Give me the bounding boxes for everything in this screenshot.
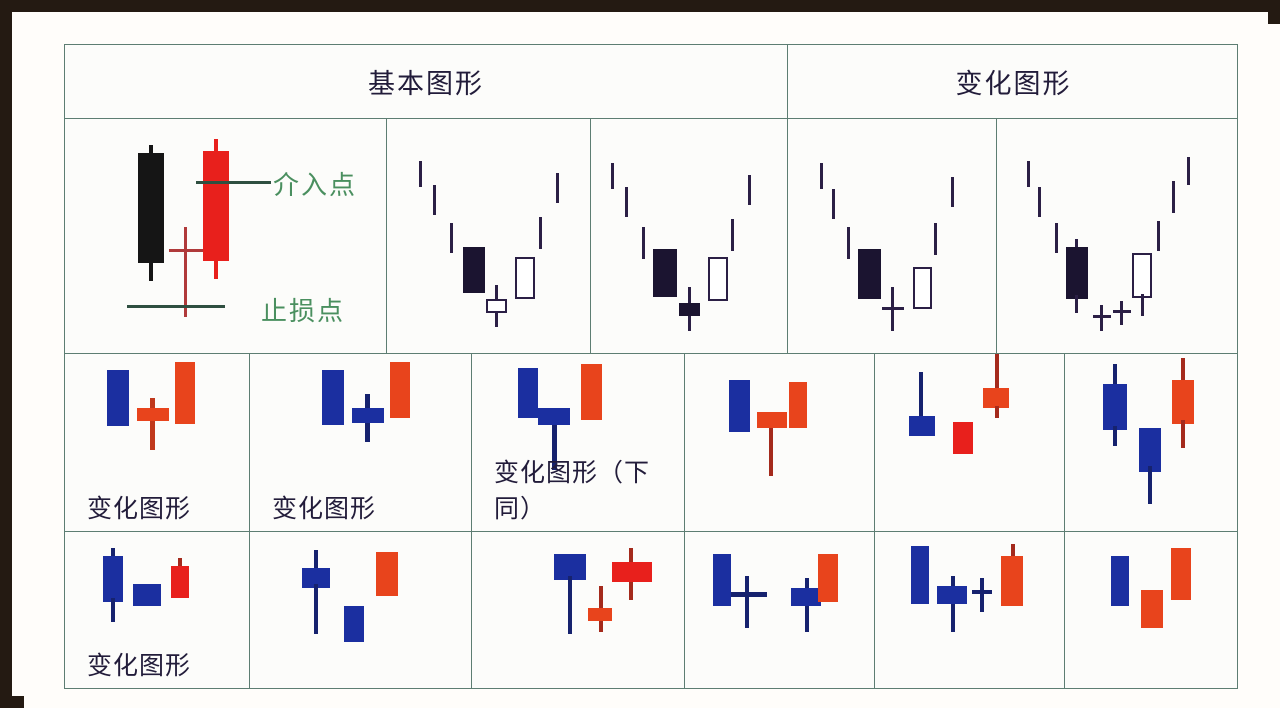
- cell-r3c3-pattern: [472, 532, 685, 688]
- candle-stage-r3c6: [1065, 532, 1239, 688]
- header-cell-basic: 基本图形: [65, 45, 788, 118]
- outer-frame: 基本图形 变化图形: [0, 0, 1280, 708]
- candle-body-hollow: [515, 257, 535, 299]
- candle-wick: [1075, 295, 1078, 313]
- cell-r2c6-pattern: [1065, 354, 1239, 531]
- stop-loss-marker: [127, 305, 225, 308]
- candle-wick: [1181, 420, 1185, 448]
- candle-tick: [450, 223, 453, 253]
- candle-tick: [731, 219, 734, 251]
- candle-tick: [1187, 157, 1190, 185]
- candle-wick: [980, 578, 984, 612]
- candle-stage-r1c2: [387, 119, 590, 353]
- cell-caption: 变化图形: [250, 489, 376, 525]
- cell-r1c1-legend: 介入点 止损点: [65, 119, 387, 353]
- candle-stage-r3c4: [685, 532, 874, 688]
- candle-wick: [919, 372, 923, 418]
- cell-caption: 变化图形: [65, 489, 191, 525]
- candle-body-orange: [1141, 590, 1163, 628]
- header-cell-variation: 变化图形: [788, 45, 1239, 118]
- cell-r3c5-pattern: [875, 532, 1065, 688]
- candle-body-hollow: [708, 257, 728, 301]
- candle-body-blue: [909, 416, 935, 436]
- candle-body-black: [138, 153, 164, 263]
- candle-wick: [1141, 294, 1144, 316]
- candle-wick: [184, 227, 187, 317]
- candle-body-hollow: [486, 299, 507, 313]
- candle-body-doji: [882, 307, 904, 310]
- candle-tick: [847, 227, 850, 259]
- candle-body-blue: [791, 588, 821, 606]
- candle-body-blue: [344, 606, 364, 642]
- cell-r1c2-pattern: [387, 119, 591, 353]
- candle-body-blue: [937, 586, 967, 604]
- candle-stage-r2c4: [685, 354, 874, 531]
- table-row: 变化图形 变化图形: [65, 354, 1237, 532]
- candle-stage-r1c5: [997, 119, 1239, 353]
- candle-body-black: [679, 303, 700, 316]
- header-basic-label: 基本图形: [368, 62, 484, 101]
- candle-stage-r1c3: [591, 119, 787, 353]
- candle-body-black: [463, 247, 485, 293]
- candle-stage-r3c5: [875, 532, 1064, 688]
- candle-body-blue: [1103, 384, 1127, 430]
- candle-wick: [568, 576, 572, 634]
- candle-body-blue: [103, 556, 123, 602]
- cell-caption: 变化图形（下同）: [472, 453, 684, 525]
- candle-body-black: [858, 249, 881, 299]
- candle-body-blue: [133, 584, 161, 606]
- candle-body-blue: [911, 546, 929, 604]
- cell-r2c4-pattern: [685, 354, 875, 531]
- candle-tick: [433, 185, 436, 215]
- cell-r2c3-pattern: 变化图形（下同）: [472, 354, 685, 531]
- candle-tick: [832, 189, 835, 219]
- candle-body-orange: [588, 608, 612, 621]
- candle-tick: [1038, 187, 1041, 217]
- cell-caption: 变化图形: [65, 646, 191, 682]
- inner-canvas: 基本图形 变化图形: [24, 24, 1280, 708]
- cell-r2c1-pattern: 变化图形: [65, 354, 250, 531]
- table-row: 变化图形: [65, 532, 1237, 688]
- candle-body-doji: [972, 590, 992, 594]
- candle-wick: [769, 420, 773, 476]
- candle-stage-r2c6: [1065, 354, 1239, 531]
- candle-body-orange: [390, 362, 410, 418]
- candle-wick: [1148, 466, 1152, 504]
- candle-body-blue: [713, 554, 731, 606]
- candle-tick: [556, 173, 559, 203]
- candle-body-blue: [1111, 556, 1129, 606]
- candle-body-hollow: [1132, 253, 1152, 298]
- candle-stage-r3c2: [250, 532, 471, 688]
- candle-wick: [1100, 305, 1103, 331]
- candle-stage-r1c4: [788, 119, 996, 353]
- candle-tick: [1157, 221, 1160, 251]
- cell-r3c1-pattern: 变化图形: [65, 532, 250, 688]
- candle-stage-r2c5: [875, 354, 1064, 531]
- candle-body-orange: [137, 408, 169, 421]
- cell-r1c3-pattern: [591, 119, 788, 353]
- candle-body-doji: [169, 249, 204, 252]
- candle-wick: [149, 259, 153, 281]
- cell-r2c2-pattern: 变化图形: [250, 354, 472, 531]
- candle-body-orange: [983, 388, 1009, 408]
- candle-wick: [1113, 426, 1117, 446]
- cell-r3c6-pattern: [1065, 532, 1239, 688]
- cell-r2c5-pattern: [875, 354, 1065, 531]
- candle-tick: [419, 161, 422, 187]
- cell-r3c4-pattern: [685, 532, 875, 688]
- candle-tick: [1172, 181, 1175, 213]
- candle-body-orange: [171, 566, 189, 598]
- table-header-row: 基本图形 变化图形: [65, 45, 1237, 119]
- candle-body-hollow: [913, 267, 932, 309]
- candle-body-doji: [1113, 310, 1131, 313]
- candle-body-orange: [376, 552, 398, 596]
- candle-stage-r3c3: [472, 532, 684, 688]
- table-row: 介入点 止损点: [65, 119, 1237, 354]
- cell-r1c5-pattern: [997, 119, 1239, 353]
- candle-body-red: [203, 151, 229, 261]
- candle-body-black: [653, 249, 677, 297]
- candle-wick: [995, 354, 999, 392]
- candle-body-blue: [538, 408, 570, 425]
- candle-tick: [820, 163, 823, 189]
- candle-body-orange: [1171, 548, 1191, 600]
- candle-body-orange: [757, 412, 787, 428]
- candle-body-orange: [612, 562, 652, 582]
- candle-body-orange: [1001, 556, 1023, 606]
- candle-body-orange: [789, 382, 807, 428]
- candle-stage-r1c1: 介入点 止损点: [65, 119, 386, 353]
- entry-point-marker: [196, 181, 271, 184]
- candle-body-black: [1066, 247, 1088, 299]
- candle-wick: [745, 576, 749, 628]
- candle-wick: [214, 257, 218, 279]
- candle-body-orange: [175, 362, 195, 424]
- candle-wick: [995, 406, 999, 418]
- candle-tick: [934, 223, 937, 255]
- candle-body-blue: [518, 368, 538, 418]
- candle-tick: [951, 177, 954, 207]
- candle-body-orange: [953, 422, 973, 454]
- candle-wick: [951, 576, 955, 632]
- candle-body-blue: [107, 370, 129, 426]
- candle-body-blue: [322, 370, 344, 425]
- candle-tick: [539, 217, 542, 249]
- stop-loss-label: 止损点: [261, 291, 345, 328]
- candle-tick: [748, 175, 751, 205]
- candle-body-orange: [818, 554, 838, 602]
- header-variation-label: 变化图形: [956, 62, 1072, 101]
- candle-wick: [1120, 301, 1123, 325]
- cell-r3c2-pattern: [250, 532, 472, 688]
- candle-body-orange: [581, 364, 602, 420]
- candle-tick: [1027, 161, 1030, 187]
- candle-body-blue: [729, 380, 750, 432]
- candle-wick: [150, 398, 155, 450]
- pattern-table: 基本图形 变化图形: [64, 44, 1238, 689]
- candle-body-blue: [352, 408, 384, 423]
- candle-wick: [111, 598, 115, 622]
- candle-body-doji: [731, 592, 767, 597]
- candle-tick: [625, 187, 628, 217]
- candle-body-doji: [1093, 315, 1111, 318]
- candle-tick: [642, 227, 645, 259]
- candle-body-orange: [1172, 380, 1194, 424]
- cell-r1c4-pattern: [788, 119, 997, 353]
- candle-tick: [611, 163, 614, 189]
- candle-tick: [1055, 223, 1058, 253]
- candle-wick: [314, 584, 318, 634]
- entry-point-label: 介入点: [273, 165, 357, 202]
